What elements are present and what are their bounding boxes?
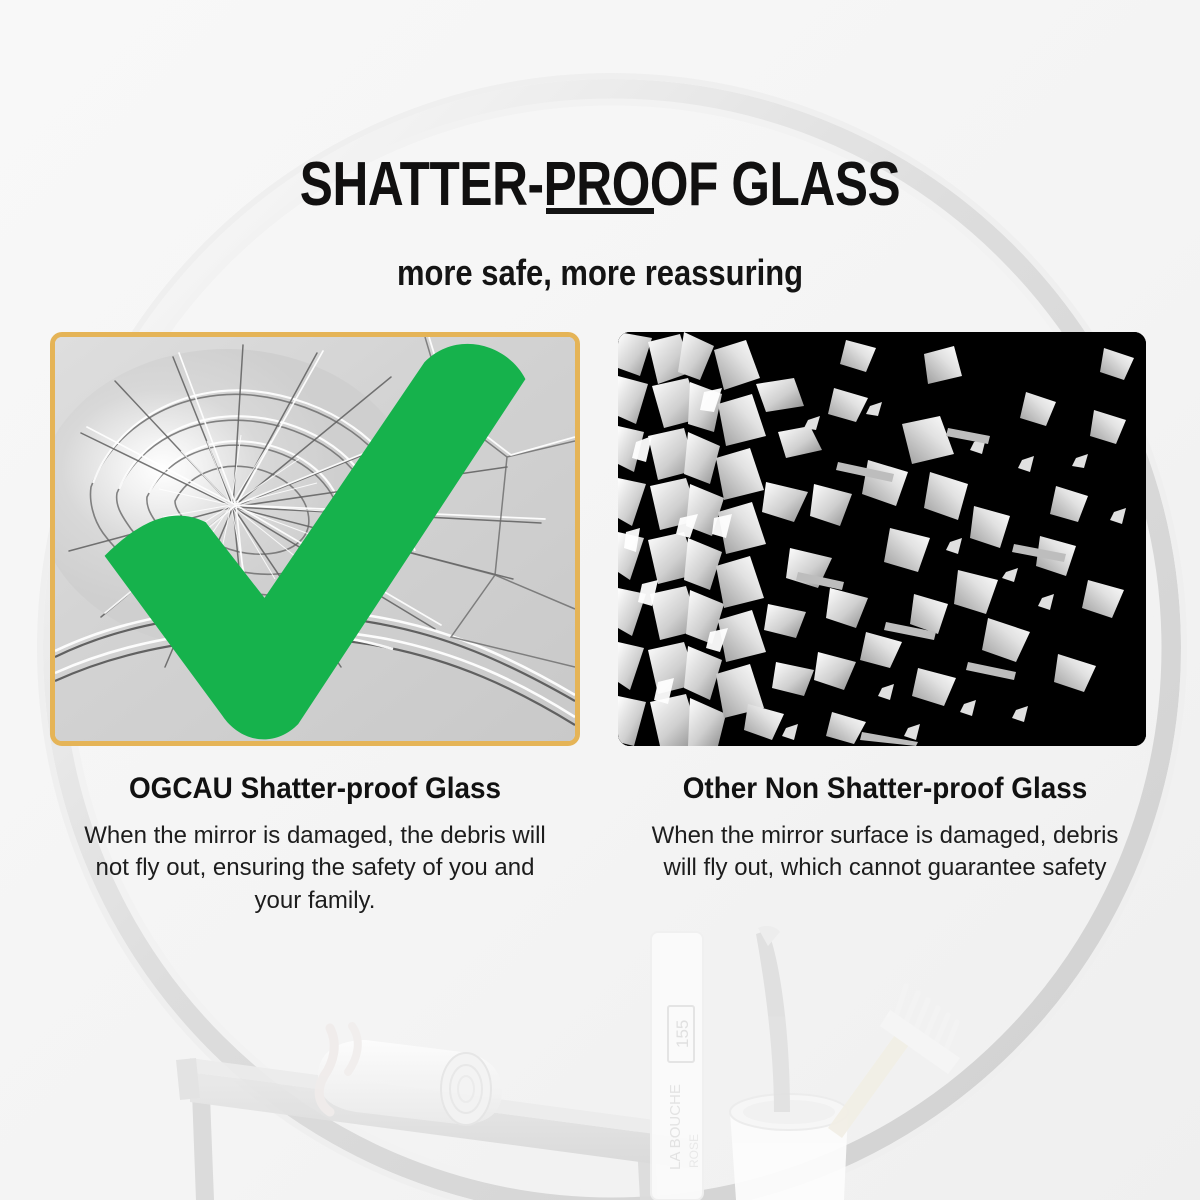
flying-shards-image [618,332,1146,746]
title-divider [546,208,654,214]
caption-right-heading: Other Non Shatter-proof Glass [629,772,1141,806]
cracked-glass-image [55,337,575,741]
green-check-icon [55,337,575,741]
non-shatter-proof-glass-photo [618,332,1146,746]
caption-left-heading: OGCAU Shatter-proof Glass [59,772,571,806]
shatter-proof-glass-photo [50,332,580,746]
caption-left-body: When the mirror is damaged, the debris w… [40,820,590,917]
page-subtitle: more safe, more reassuring [84,252,1116,293]
page-title: SHATTER-PROOF GLASS [120,154,1080,216]
caption-right-body: When the mirror surface is damaged, debr… [610,820,1160,885]
comparison-panels [0,332,1200,752]
caption-right: Other Non Shatter-proof Glass When the m… [610,772,1160,885]
caption-left: OGCAU Shatter-proof Glass When the mirro… [40,772,590,917]
